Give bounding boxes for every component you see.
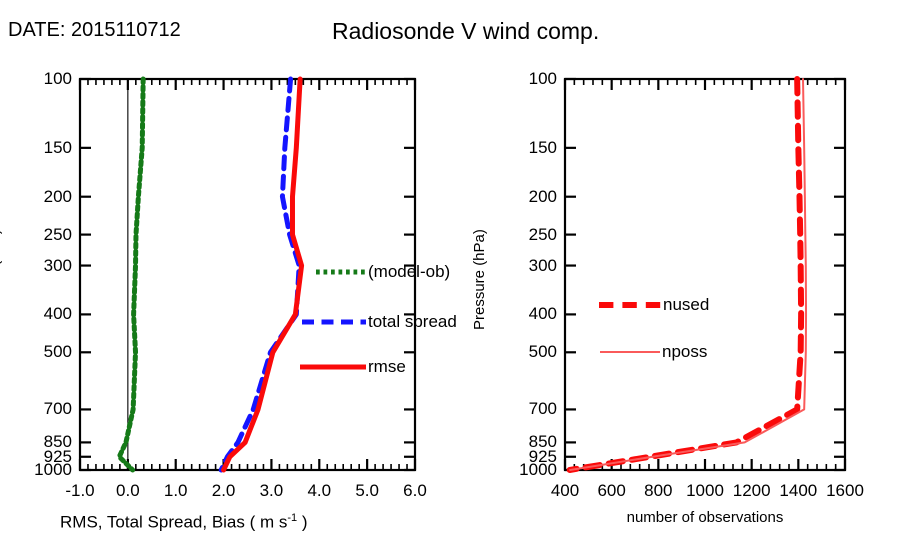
y-tick-label: 1000 bbox=[17, 461, 72, 478]
x-tick-label: 600 bbox=[590, 482, 634, 499]
y-tick-label: 200 bbox=[502, 188, 557, 205]
series-line-nposs bbox=[570, 79, 806, 470]
y-tick-label: 150 bbox=[502, 139, 557, 156]
legend-label: total spread bbox=[368, 313, 457, 330]
series-line-nused bbox=[570, 79, 801, 470]
x-tick-label: 1400 bbox=[776, 482, 820, 499]
x-tick-label: 1200 bbox=[730, 482, 774, 499]
series-line-totalspread bbox=[221, 79, 299, 470]
series-line-rmse bbox=[224, 79, 302, 470]
y-axis-title: Pressure (hPa) bbox=[0, 229, 2, 330]
chart-page: DATE: 2015110712 Radiosonde V wind comp.… bbox=[0, 0, 900, 560]
x-tick-label: 5.0 bbox=[345, 482, 389, 499]
legend-label: rmse bbox=[368, 358, 406, 375]
y-tick-label: 250 bbox=[17, 226, 72, 243]
series-line-modelob bbox=[119, 79, 143, 470]
y-tick-label: 250 bbox=[502, 226, 557, 243]
x-tick-label: 800 bbox=[636, 482, 680, 499]
x-tick-label: 1000 bbox=[683, 482, 727, 499]
x-axis-title: RMS, Total Spread, Bias ( m s-1 ) bbox=[60, 513, 308, 531]
y-tick-label: 400 bbox=[502, 305, 557, 322]
y-tick-label: 1000 bbox=[502, 461, 557, 478]
y-tick-label: 700 bbox=[17, 400, 72, 417]
x-tick-label: -1.0 bbox=[58, 482, 102, 499]
y-tick-label: 200 bbox=[17, 188, 72, 205]
legend-label: (model-ob) bbox=[368, 263, 450, 280]
y-tick-label: 400 bbox=[17, 305, 72, 322]
x-tick-label: 6.0 bbox=[393, 482, 437, 499]
x-axis-title: number of observations bbox=[605, 510, 805, 525]
legend-label: nused bbox=[663, 296, 709, 313]
y-tick-label: 300 bbox=[502, 257, 557, 274]
x-tick-label: 0.0 bbox=[106, 482, 150, 499]
x-tick-label: 1600 bbox=[823, 482, 867, 499]
y-tick-label: 100 bbox=[17, 70, 72, 87]
y-tick-label: 150 bbox=[17, 139, 72, 156]
plot-canvas bbox=[0, 0, 900, 560]
x-tick-label: 1.0 bbox=[154, 482, 198, 499]
y-tick-label: 500 bbox=[17, 343, 72, 360]
x-tick-label: 4.0 bbox=[297, 482, 341, 499]
x-tick-label: 3.0 bbox=[249, 482, 293, 499]
y-tick-label: 300 bbox=[17, 257, 72, 274]
y-tick-label: 100 bbox=[502, 70, 557, 87]
y-axis-title: Pressure (hPa) bbox=[472, 229, 487, 330]
x-tick-label: 400 bbox=[543, 482, 587, 499]
y-tick-label: 700 bbox=[502, 400, 557, 417]
y-tick-label: 500 bbox=[502, 343, 557, 360]
x-tick-label: 2.0 bbox=[202, 482, 246, 499]
legend-label: nposs bbox=[662, 343, 707, 360]
